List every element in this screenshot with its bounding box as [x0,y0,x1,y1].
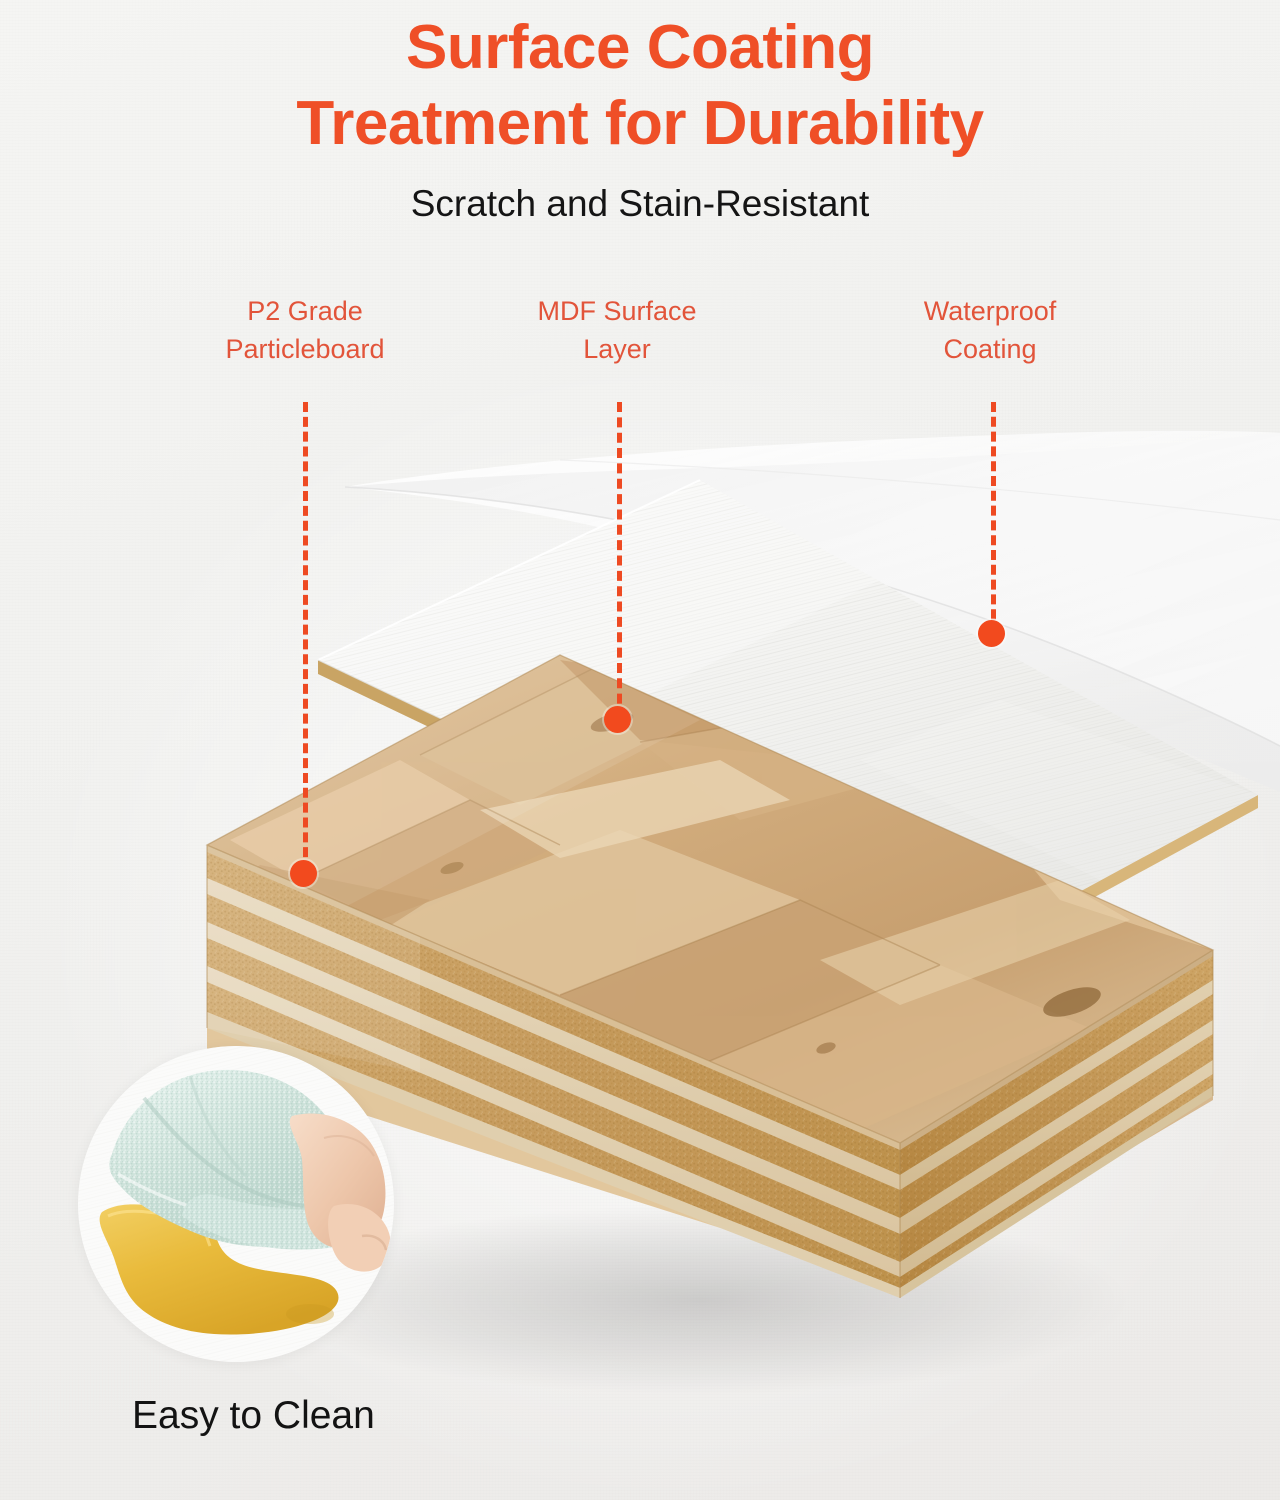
callout-2-line-2: Coating [850,330,1130,368]
callout-1-line-2: Layer [477,330,757,368]
header: Surface Coating Treatment for Durability… [0,0,1280,226]
leader-line-waterproof-coating [991,402,996,634]
callout-1-line-1: MDF Surface [477,292,757,330]
callout-label-waterproof-coating: Waterproof Coating [850,292,1130,368]
callout-0-line-2: Particleboard [160,330,450,368]
leader-line-p2-grade-particleboard [303,402,308,872]
callout-label-p2-grade-particleboard: P2 Grade Particleboard [160,292,450,368]
easy-to-clean-caption: Easy to Clean [132,1392,375,1440]
easy-to-clean-inset [78,1046,394,1362]
callout-label-mdf-surface-layer: MDF Surface Layer [477,292,757,368]
leader-dot-p2-grade-particleboard [290,860,317,887]
page-title-line-1: Surface Coating [0,10,1280,86]
board-shadow [270,1205,1130,1395]
page-subtitle: Scratch and Stain-Resistant [0,182,1280,226]
leader-line-mdf-surface-layer [617,402,622,719]
callout-0-line-1: P2 Grade [160,292,450,330]
infographic-canvas: Surface Coating Treatment for Durability… [0,0,1280,1500]
leader-dot-waterproof-coating [978,620,1005,647]
callout-2-line-1: Waterproof [850,292,1130,330]
page-title-line-2: Treatment for Durability [0,86,1280,162]
leader-dot-mdf-surface-layer [604,706,631,733]
